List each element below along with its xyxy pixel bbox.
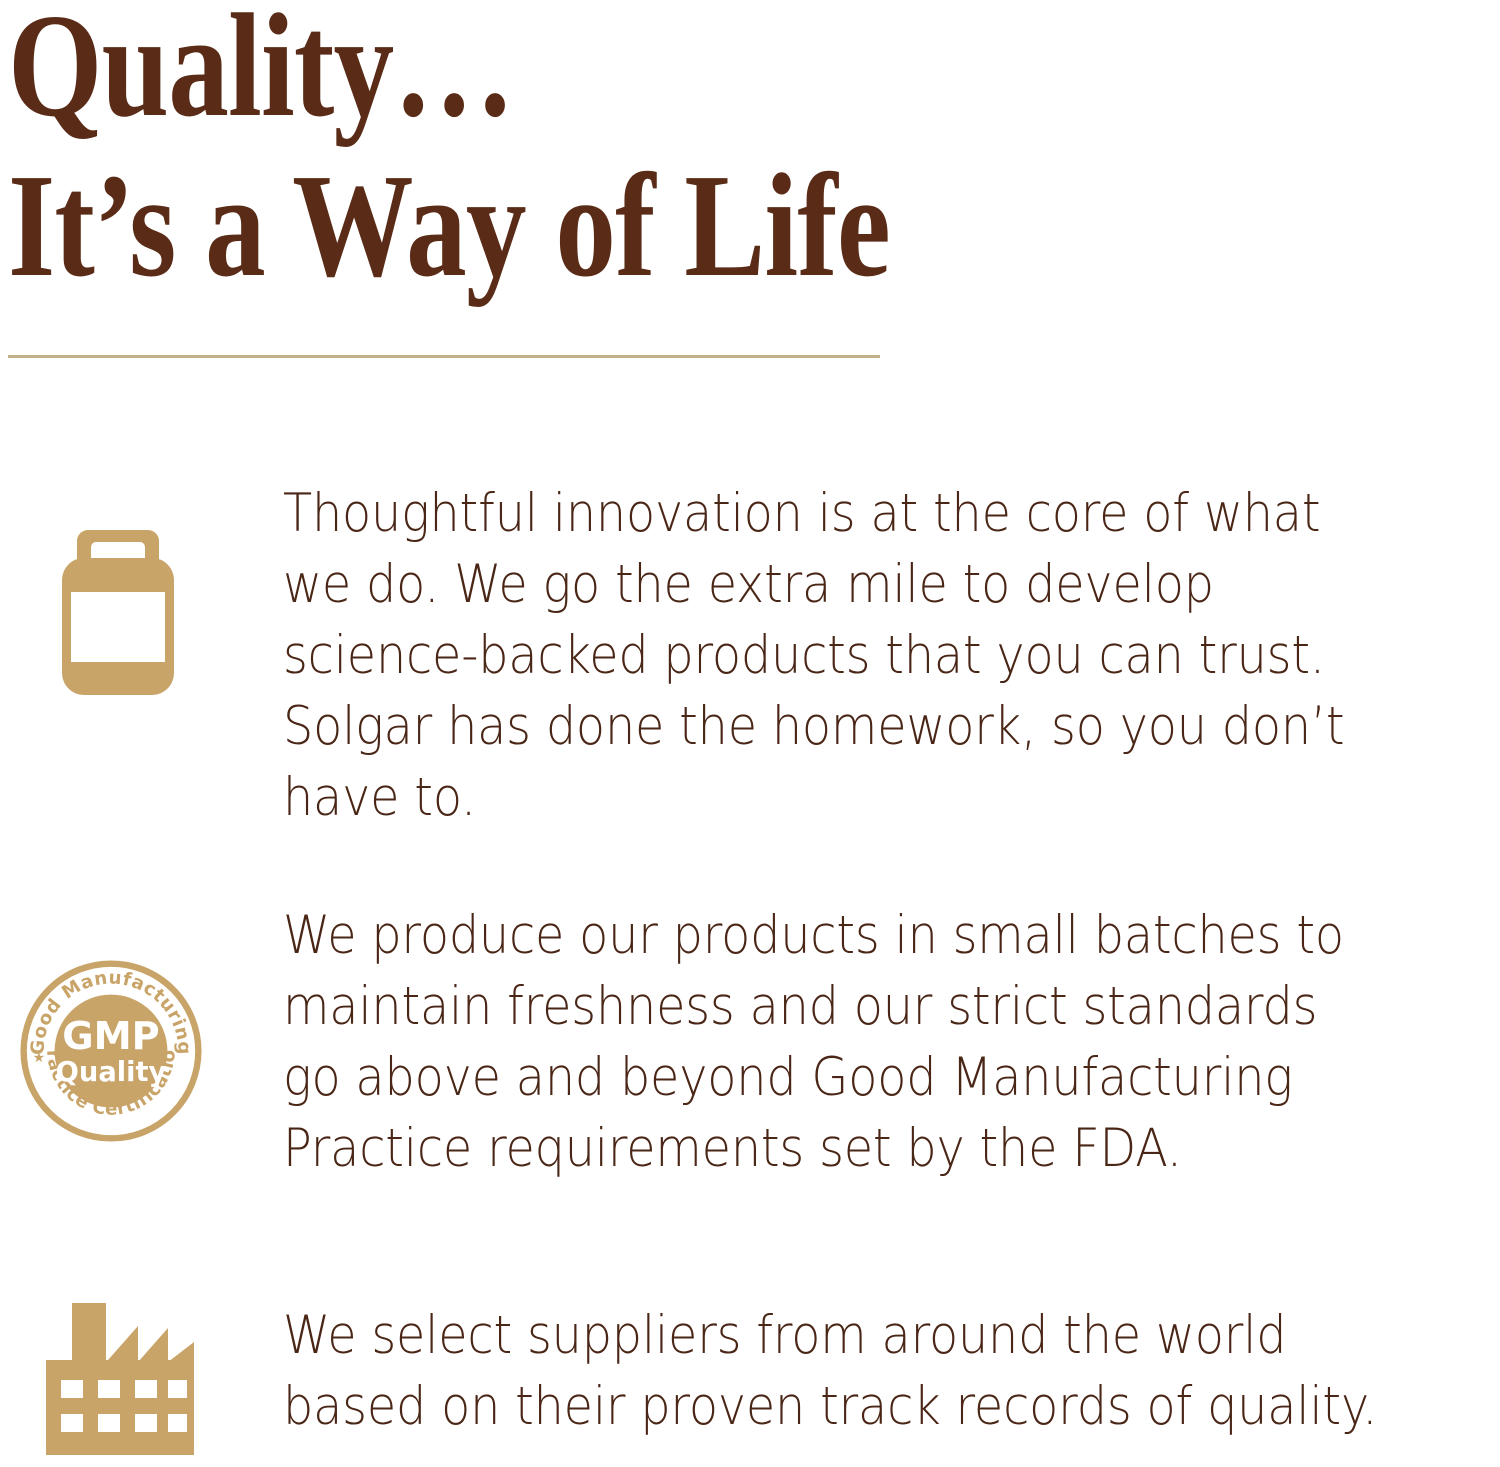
feature-paragraph: Thoughtful innovation is at the core of … (283, 478, 1378, 833)
gmp-star-icon: ★ (33, 1050, 45, 1066)
feature-paragraph: We select suppliers from around the worl… (283, 1300, 1378, 1442)
quality-page: Quality… It’s a Way of Life Thoughtful i… (0, 0, 1500, 1467)
feature-row-suppliers: We select suppliers from around the worl… (0, 1300, 1500, 1442)
feature-text-innovation: Thoughtful innovation is at the core of … (283, 478, 1378, 833)
gmp-center-label: GMP (62, 1015, 159, 1059)
gmp-quality-badge-icon: Good Manufacturing Practice Certificatio… (20, 960, 202, 1142)
feature-icon-container (0, 478, 283, 479)
page-title: Quality… It’s a Way of Life (8, 0, 1074, 300)
feature-text-gmp: We produce our products in small batches… (283, 900, 1378, 1184)
page-title-line-2: It’s a Way of Life (8, 152, 1074, 300)
feature-icon-container: Good Manufacturing Practice Certificatio… (0, 900, 283, 901)
gmp-center-sublabel: Quality (56, 1057, 167, 1088)
feature-row-innovation: Thoughtful innovation is at the core of … (0, 478, 1500, 833)
divider (8, 355, 880, 358)
feature-paragraph: We produce our products in small batches… (283, 900, 1378, 1184)
supplement-bottle-icon (62, 530, 174, 695)
feature-icon-container (0, 1300, 283, 1301)
page-title-line-1: Quality… (8, 0, 1074, 140)
feature-text-suppliers: We select suppliers from around the worl… (283, 1300, 1378, 1442)
factory-icon (46, 1300, 194, 1458)
feature-row-gmp: Good Manufacturing Practice Certificatio… (0, 900, 1500, 1184)
